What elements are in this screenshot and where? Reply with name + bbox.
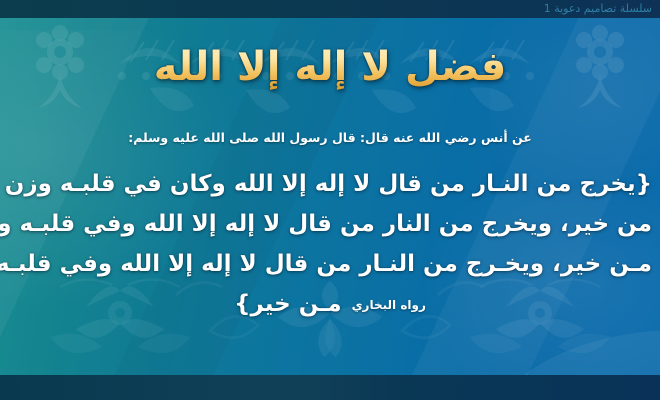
hadith-line-4: مـن خير} — [234, 284, 341, 324]
series-label: سلسلة تصاميم دعوية 1 — [544, 0, 652, 18]
hadith-line-3: مـن خير، ويخـرج من النـار من قال لا إله … — [8, 244, 652, 284]
hadith-line-1: {يخرج من النـار من قال لا إله إلا الله و… — [8, 164, 652, 204]
hadith-source: رواه البخاري — [352, 285, 426, 325]
poster-content: فضل لا إله إلا الله عن أنس رضي الله عنه … — [0, 18, 660, 375]
top-bar: سلسلة تصاميم دعوية 1 — [0, 0, 660, 18]
hadith-last-line-row: رواه البخاري مـن خير} — [8, 284, 652, 327]
dawah-poster: سلسلة تصاميم دعوية 1 فضل لا إله إلا الله… — [0, 0, 660, 400]
hadith-line-2: من خير، ويخرج من النار من قال لا إله إلا… — [8, 204, 652, 244]
bottom-bar — [0, 375, 660, 400]
hadith-body: {يخرج من النـار من قال لا إله إلا الله و… — [8, 164, 652, 327]
hadith-attribution: عن أنس رضي الله عنه قال: قال رسول الله ص… — [0, 130, 660, 146]
page-title: فضل لا إله إلا الله — [0, 44, 660, 90]
